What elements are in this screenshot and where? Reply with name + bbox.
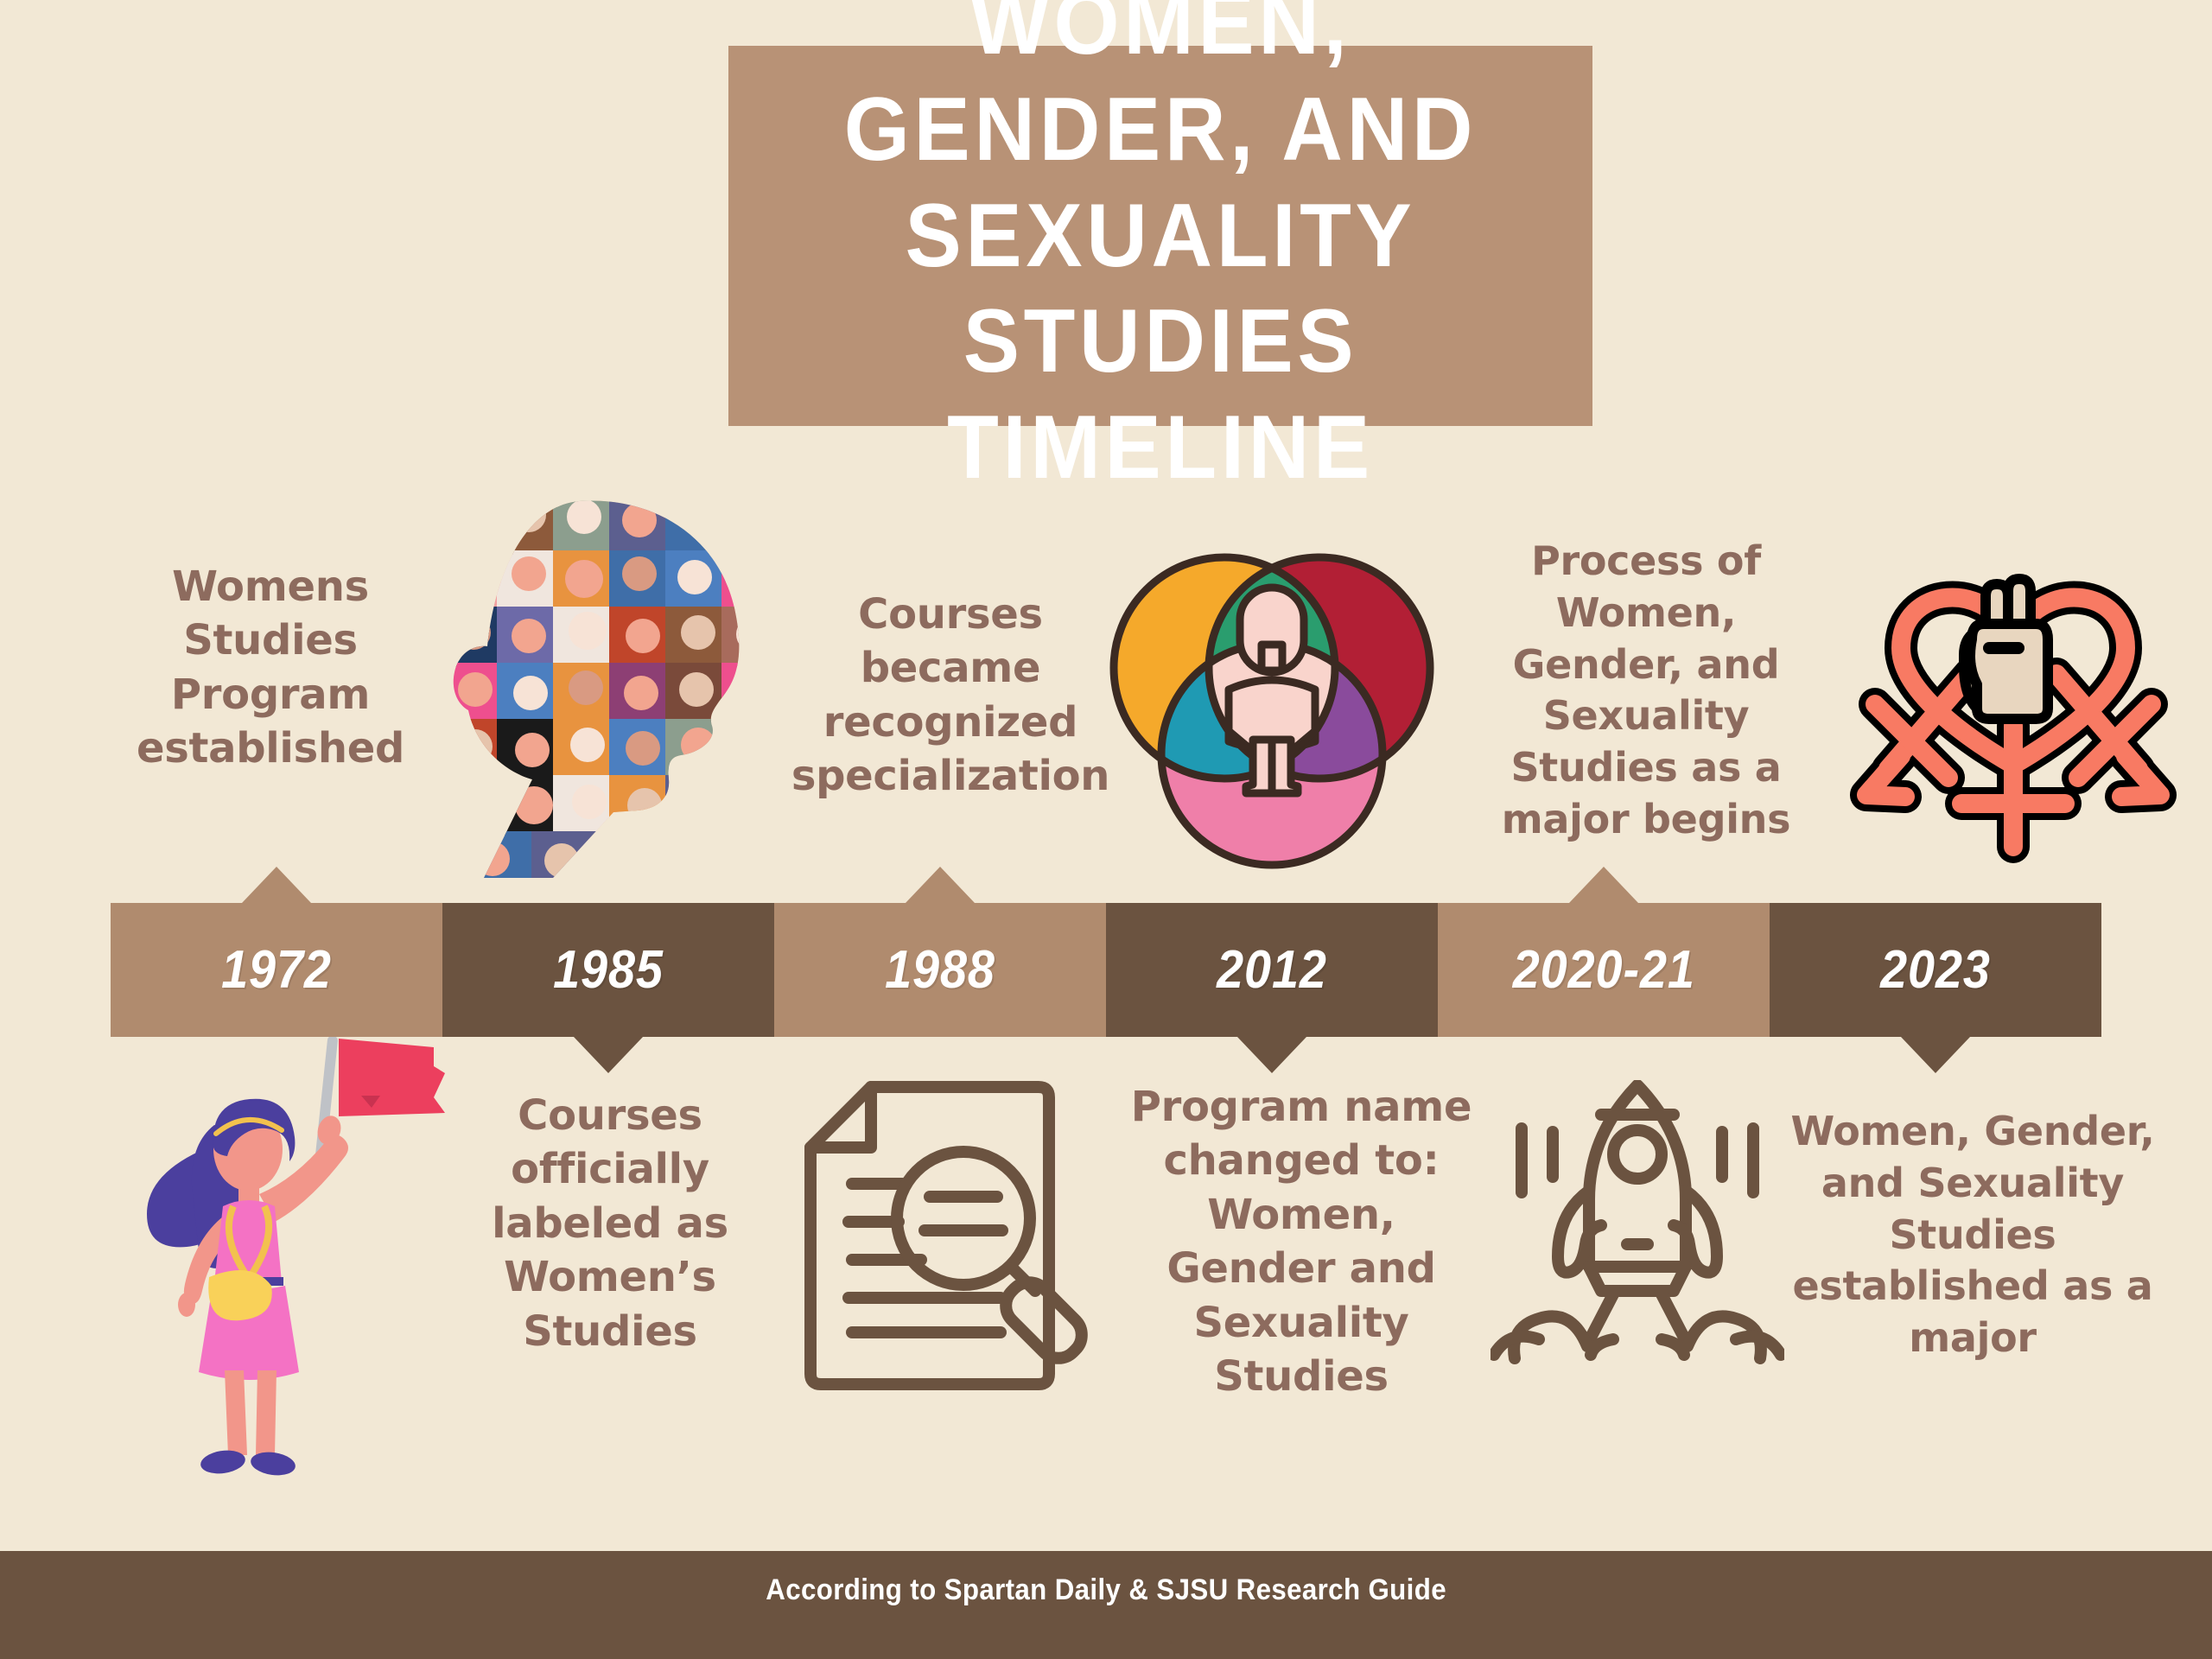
timeline-segment-1972[interactable]: 1972 xyxy=(111,903,442,1037)
event-caption-2012: Program name changed to: Women, Gender a… xyxy=(1120,1080,1483,1403)
heart-gender-symbols-fist-icon xyxy=(1840,518,2186,864)
pointer-up-icon xyxy=(242,867,311,903)
pointer-down-icon xyxy=(574,1037,643,1073)
timeline-year-1985: 1985 xyxy=(553,939,664,1001)
event-caption-1972: Womens Studies Program established xyxy=(111,560,430,776)
timeline-bar: 1972 1985 1988 2012 2020-21 2023 xyxy=(111,903,2101,1037)
timeline-segment-1988[interactable]: 1988 xyxy=(774,903,1106,1037)
pointer-down-icon xyxy=(1237,1037,1306,1073)
pointer-down-icon xyxy=(1901,1037,1970,1073)
timeline-year-1988: 1988 xyxy=(885,939,995,1001)
timeline-year-2020-21: 2020-21 xyxy=(1512,939,1694,1001)
footer-bar: According to Spartan Daily & SJSU Resear… xyxy=(0,1551,2212,1659)
page-title: WOMEN, GENDER, AND SEXUALITY STUDIES TIM… xyxy=(787,0,1535,501)
venn-diagram-person-icon xyxy=(1099,534,1445,880)
rocket-launch-icon xyxy=(1491,1080,1784,1400)
footer-source-text: According to Spartan Daily & SJSU Resear… xyxy=(766,1573,1446,1607)
diverse-women-head-silhouette-icon xyxy=(449,494,786,883)
timeline-segment-2020-21[interactable]: 2020-21 xyxy=(1438,903,1770,1037)
document-magnifier-icon xyxy=(804,1080,1115,1400)
timeline-year-1972: 1972 xyxy=(221,939,332,1001)
event-caption-1985: Courses officially labeled as Women’s St… xyxy=(472,1089,748,1358)
timeline-segment-2023[interactable]: 2023 xyxy=(1770,903,2101,1037)
event-caption-2023: Women, Gender, and Sexuality Studies est… xyxy=(1787,1106,2158,1364)
timeline-segment-2012[interactable]: 2012 xyxy=(1106,903,1438,1037)
timeline-segment-1985[interactable]: 1985 xyxy=(442,903,774,1037)
title-block: WOMEN, GENDER, AND SEXUALITY STUDIES TIM… xyxy=(728,46,1592,426)
timeline-year-2012: 2012 xyxy=(1217,939,1327,1001)
event-caption-1988: Courses became recognized specialization xyxy=(778,588,1123,804)
pointer-up-icon xyxy=(1569,867,1638,903)
event-caption-2020-21: Process of Women, Gender, and Sexuality … xyxy=(1473,536,1819,846)
timeline-year-2023: 2023 xyxy=(1880,939,1991,1001)
woman-with-flag-illustration xyxy=(112,1028,458,1486)
pointer-up-icon xyxy=(906,867,975,903)
